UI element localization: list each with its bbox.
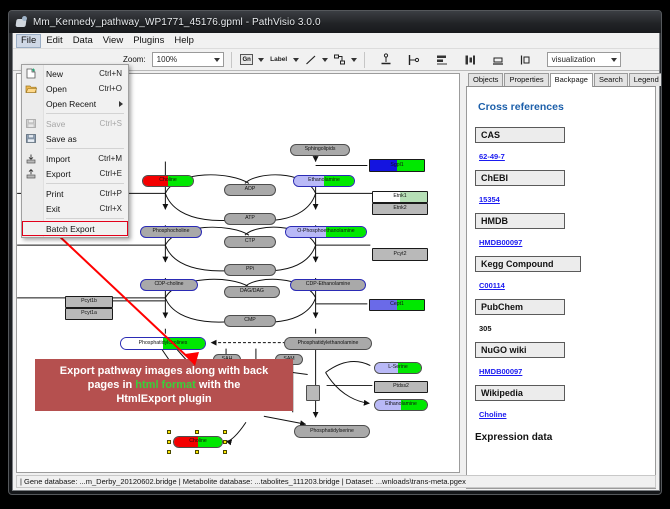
application-window: Mm_Kennedy_pathway_WP1771_45176.gpml - P… bbox=[8, 10, 662, 495]
xref-source-wikipedia: Wikipedia bbox=[475, 385, 565, 401]
expression-data-heading: Expression data bbox=[475, 432, 647, 443]
interaction-button[interactable] bbox=[332, 52, 348, 68]
interaction-icon bbox=[333, 53, 347, 67]
file-menu-item-exit[interactable]: Exit Ctrl+X bbox=[22, 201, 128, 216]
pathway-node-ophosphoethanolamine[interactable]: O-Phosphoethanolamine bbox=[285, 226, 367, 238]
file-menu-label-save-as: Save as bbox=[46, 134, 77, 144]
file-menu-separator-2 bbox=[46, 148, 124, 149]
statusbar: | Gene database: ...m_Derby_20120602.bri… bbox=[16, 475, 656, 488]
pathvisio-app-icon bbox=[15, 16, 28, 29]
pathway-node-phosphocholine[interactable]: Phosphocholine bbox=[140, 226, 202, 238]
pathway-node-label: Etnk1 bbox=[393, 194, 406, 199]
pathway-node-label: Sphingolipids bbox=[305, 147, 336, 152]
backpage-content: Cross references CAS 62-49-7 ChEBI 15354… bbox=[466, 87, 656, 489]
file-menu-item-import[interactable]: Import Ctrl+M bbox=[22, 151, 128, 166]
pathway-node-pcyt2[interactable]: Pcyt2 bbox=[372, 248, 428, 261]
pathway-node-label: Pcyt2 bbox=[394, 252, 407, 257]
label-chevron-down-icon[interactable] bbox=[293, 58, 299, 62]
file-menu-separator-3 bbox=[46, 183, 124, 184]
same-height-button[interactable] bbox=[490, 52, 506, 68]
xref-value-hmdb[interactable]: HMDB00097 bbox=[479, 238, 522, 247]
pathway-node-ptdss2[interactable]: Ptdss2 bbox=[374, 381, 428, 393]
line-icon bbox=[304, 53, 318, 67]
pathway-node-label: CMP bbox=[244, 318, 256, 323]
export-icon bbox=[25, 168, 37, 179]
file-menu-accel-open: Ctrl+O bbox=[99, 84, 128, 93]
pathway-node-ethanolamine[interactable]: Ethanolamine bbox=[293, 175, 355, 187]
pathway-node-label: Choline bbox=[159, 178, 177, 183]
pathway-node-sgpl1[interactable]: Sgpl1 bbox=[369, 159, 425, 172]
pathway-node-ctp[interactable]: CTP bbox=[224, 236, 276, 248]
xref-value-nugo[interactable]: HMDB00097 bbox=[479, 367, 522, 376]
import-icon bbox=[25, 153, 37, 164]
datanode-button[interactable]: Gn bbox=[239, 52, 255, 68]
callout-line-2-highlight: html format bbox=[135, 379, 196, 391]
zoom-value: 100% bbox=[157, 55, 177, 64]
pathway-node-label: Etnk2 bbox=[393, 206, 406, 211]
cross-references-title: Cross references bbox=[478, 101, 647, 113]
pathway-node-etnk1[interactable]: Etnk1 bbox=[372, 191, 428, 203]
new-file-icon bbox=[25, 68, 37, 79]
pathway-node-label: CDP-Ethanolamine bbox=[306, 282, 350, 287]
xref-value-chebi[interactable]: 15354 bbox=[479, 195, 500, 204]
statusbar-text: | Gene database: ...m_Derby_20120602.bri… bbox=[20, 477, 466, 486]
align-center-icon bbox=[463, 53, 477, 67]
file-menu-accel-exit: Ctrl+X bbox=[100, 204, 128, 213]
pathway-node-phosphatidylethanolamine[interactable]: Phosphatidylethanolamine bbox=[284, 337, 372, 350]
pathway-node-dagdag[interactable]: DAG/DAG bbox=[224, 286, 280, 298]
xref-source-chebi: ChEBI bbox=[475, 170, 565, 186]
callout-line-2a: pages in bbox=[88, 379, 136, 391]
file-menu-item-export[interactable]: Export Ctrl+E bbox=[22, 166, 128, 181]
menu-data[interactable]: Data bbox=[68, 34, 98, 48]
same-height-icon bbox=[491, 53, 505, 67]
same-width-icon bbox=[519, 53, 533, 67]
pathway-node-pcyt1a[interactable]: Pcyt1a bbox=[65, 308, 113, 320]
xref-value-cas[interactable]: 62-49-7 bbox=[479, 152, 505, 161]
pathway-node-label: PPi bbox=[246, 267, 254, 272]
align-left-icon bbox=[407, 53, 421, 67]
zoom-label: Zoom: bbox=[123, 55, 146, 64]
xref-value-pubchem: 305 bbox=[479, 324, 492, 333]
menu-help[interactable]: Help bbox=[169, 34, 199, 48]
tab-properties[interactable]: Properties bbox=[504, 73, 548, 86]
file-menu-label-exit: Exit bbox=[46, 204, 60, 214]
tab-objects[interactable]: Objects bbox=[468, 73, 503, 86]
screenshot-root: Mm_Kennedy_pathway_WP1771_45176.gpml - P… bbox=[0, 0, 670, 509]
xref-source-nugo: NuGO wiki bbox=[475, 342, 565, 358]
pathway-node-sphingolipids[interactable]: Sphingolipids bbox=[290, 144, 350, 156]
submenu-chevron-right-icon bbox=[119, 101, 123, 107]
pathway-node-label: Phosphatidylserine bbox=[310, 429, 354, 434]
application-body: File Edit Data View Plugins Help Zoom: 1… bbox=[12, 33, 660, 491]
align-middle-button[interactable] bbox=[434, 52, 450, 68]
pathway-node-cdpethanolamine[interactable]: CDP-Ethanolamine bbox=[290, 279, 366, 291]
xref-source-cas: CAS bbox=[475, 127, 565, 143]
pathway-node-label: Ptdss2 bbox=[393, 384, 409, 389]
file-menu-separator-4 bbox=[46, 218, 124, 219]
callout-line-1: Export pathway images along with back bbox=[60, 365, 268, 377]
file-menu-accel-import: Ctrl+M bbox=[98, 154, 128, 163]
file-menu-label-open: Open bbox=[46, 84, 67, 94]
visualization-value: visualization bbox=[552, 55, 596, 64]
menu-plugins[interactable]: Plugins bbox=[128, 34, 169, 48]
pathway-node-label: O-Phosphoethanolamine bbox=[297, 229, 354, 234]
pathway-node-cmp[interactable]: CMP bbox=[224, 315, 276, 327]
pathway-node-label: Pcyt1a bbox=[81, 311, 97, 316]
tab-backpage[interactable]: Backpage bbox=[550, 73, 593, 87]
align-left-button[interactable] bbox=[406, 52, 422, 68]
callout-line-2b: with the bbox=[196, 379, 241, 391]
pathway-node-adp[interactable]: ADP bbox=[224, 184, 276, 196]
file-menu-label-import: Import bbox=[46, 154, 70, 164]
side-panel-tabs: Objects Properties Backpage Search Legen… bbox=[466, 73, 656, 87]
open-folder-icon bbox=[25, 83, 37, 94]
file-menu-item-save[interactable]: Save Ctrl+S bbox=[22, 116, 128, 131]
pathway-node-label: Ethanolamine bbox=[308, 178, 340, 183]
menu-view[interactable]: View bbox=[98, 34, 128, 48]
pathway-node-etnk2[interactable]: Etnk2 bbox=[372, 203, 428, 215]
menu-edit[interactable]: Edit bbox=[41, 34, 67, 48]
side-panel: Objects Properties Backpage Search Legen… bbox=[466, 73, 656, 489]
pathway-node-label: Pcyt1b bbox=[81, 299, 97, 304]
same-width-button[interactable] bbox=[518, 52, 534, 68]
align-top-button[interactable] bbox=[378, 52, 394, 68]
zoom-combobox[interactable]: 100% bbox=[152, 52, 224, 67]
file-menu-label-save: Save bbox=[46, 119, 65, 129]
tab-legend[interactable]: Legend bbox=[629, 73, 662, 86]
pathway-node-label: Ethanolamine bbox=[385, 402, 417, 407]
xref-source-pubchem: PubChem bbox=[475, 299, 565, 315]
pathway-node-label: Phosphatidylethanolamine bbox=[298, 341, 359, 346]
pathway-node-label: CTP bbox=[245, 239, 255, 244]
tab-search[interactable]: Search bbox=[594, 73, 628, 86]
pathway-node-phosphatidylcholines[interactable]: Phosphatidylcholines bbox=[120, 337, 206, 350]
xref-source-hmdb: HMDB bbox=[475, 213, 565, 229]
file-menu-item-new[interactable]: New Ctrl+N bbox=[22, 66, 128, 81]
interaction-chevron-down-icon[interactable] bbox=[351, 58, 357, 62]
menu-file[interactable]: File bbox=[16, 34, 41, 48]
file-menu-accel-save: Ctrl+S bbox=[100, 119, 128, 128]
file-menu-accel-new: Ctrl+N bbox=[99, 69, 128, 78]
xref-value-wikipedia[interactable]: Choline bbox=[479, 410, 507, 419]
file-menu-accel-export: Ctrl+E bbox=[100, 169, 128, 178]
file-menu-label-open-recent: Open Recent bbox=[46, 99, 96, 109]
pathway-node-pcyt1b[interactable]: Pcyt1b bbox=[65, 296, 113, 308]
save-as-icon bbox=[25, 133, 37, 144]
align-top-icon bbox=[379, 53, 393, 67]
xref-value-kegg[interactable]: C00114 bbox=[479, 281, 505, 290]
xref-source-kegg: Kegg Compound bbox=[475, 256, 581, 272]
file-menu-label-new: New bbox=[46, 69, 63, 79]
geneproduct-icon: Gn bbox=[240, 54, 253, 65]
pathway-node-label: DAG/DAG bbox=[240, 289, 264, 294]
file-menu-separator-1 bbox=[46, 113, 124, 114]
file-menu-dropdown[interactable]: New Ctrl+N Open Ctrl+O Open Recent bbox=[21, 64, 129, 238]
pathway-node-ethanolamine2[interactable]: Ethanolamine bbox=[374, 399, 428, 411]
window-titlebar: Mm_Kennedy_pathway_WP1771_45176.gpml - P… bbox=[9, 11, 661, 33]
file-menu-label-export: Export bbox=[46, 169, 71, 179]
chevron-down-icon bbox=[214, 58, 220, 62]
file-menu-item-save-as[interactable]: Save as bbox=[22, 131, 128, 146]
pathway-node-smallbox[interactable] bbox=[306, 385, 320, 401]
callout-line-3: HtmlExport plugin bbox=[116, 393, 211, 405]
file-menu-item-open[interactable]: Open Ctrl+O bbox=[22, 81, 128, 96]
toolbar-separator bbox=[231, 52, 232, 68]
file-menu-accel-print: Ctrl+P bbox=[100, 189, 128, 198]
window-title: Mm_Kennedy_pathway_WP1771_45176.gpml - P… bbox=[33, 17, 321, 28]
pathway-node-choline[interactable]: Choline bbox=[142, 175, 194, 187]
pathway-node-label: CDP-choline bbox=[154, 282, 183, 287]
pathway-node-label: ADP bbox=[245, 187, 256, 192]
label-button[interactable]: Label bbox=[268, 52, 290, 68]
pathway-node-ppi[interactable]: PPi bbox=[224, 264, 276, 276]
file-menu-item-open-recent[interactable]: Open Recent bbox=[22, 96, 128, 111]
visualization-chevron-down-icon bbox=[611, 58, 617, 62]
pathway-node-cept1[interactable]: Cept1 bbox=[369, 299, 425, 311]
line-button[interactable] bbox=[303, 52, 319, 68]
menubar: File Edit Data View Plugins Help bbox=[13, 33, 659, 49]
align-center-button[interactable] bbox=[462, 52, 478, 68]
pathway-node-label: L-Serine bbox=[388, 365, 408, 370]
selection-handles[interactable] bbox=[167, 430, 229, 454]
datanode-chevron-down-icon[interactable] bbox=[258, 58, 264, 62]
pathway-node-atp[interactable]: ATP bbox=[224, 213, 276, 225]
pathway-node-label: Phosphatidylcholines bbox=[139, 341, 188, 346]
align-middle-icon bbox=[435, 53, 449, 67]
visualization-combobox[interactable]: visualization bbox=[547, 52, 621, 67]
file-menu-label-batch-export: Batch Export bbox=[46, 224, 95, 234]
pathway-node-cdpcholine[interactable]: CDP-choline bbox=[140, 279, 198, 291]
save-disk-icon bbox=[25, 118, 37, 129]
toolbar-separator-2 bbox=[364, 52, 365, 68]
pathway-node-label: ATP bbox=[245, 216, 255, 221]
line-chevron-down-icon[interactable] bbox=[322, 58, 328, 62]
pathway-node-label: Sgpl1 bbox=[390, 163, 403, 168]
file-menu-item-batch-export[interactable]: Batch Export bbox=[22, 221, 128, 236]
pathway-node-lserine[interactable]: L-Serine bbox=[374, 362, 422, 374]
file-menu-label-print: Print bbox=[46, 189, 63, 199]
annotation-callout: Export pathway images along with back pa… bbox=[35, 359, 293, 411]
pathway-node-label: Phosphocholine bbox=[153, 229, 190, 234]
file-menu-item-print[interactable]: Print Ctrl+P bbox=[22, 186, 128, 201]
label-icon: Label bbox=[270, 56, 287, 63]
pathway-node-phosphatidylserine[interactable]: Phosphatidylserine bbox=[294, 425, 370, 438]
pathway-node-label: Cept1 bbox=[390, 302, 404, 307]
